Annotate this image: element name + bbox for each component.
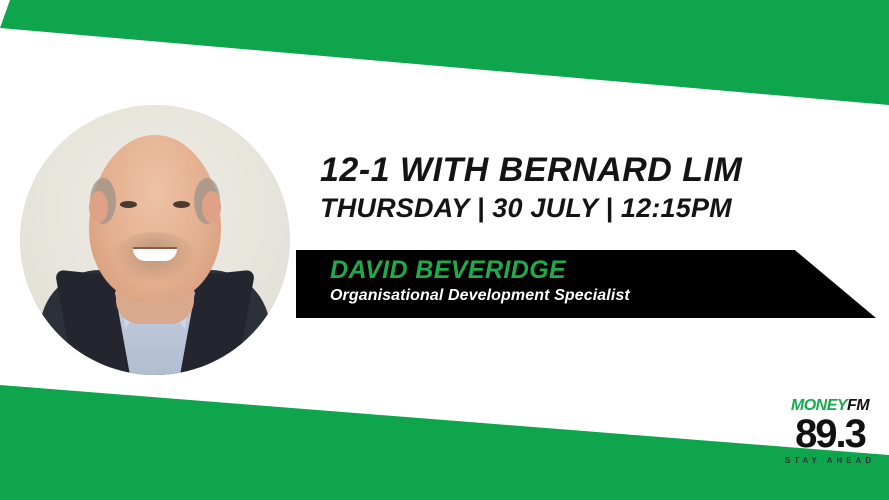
- logo-frequency: 89.3: [780, 415, 880, 453]
- logo-tagline: STAY AHEAD: [780, 456, 880, 465]
- headline-block: 12-1 WITH BERNARD LIM THURSDAY | 30 JULY…: [320, 153, 876, 224]
- photo-ear-left: [89, 191, 108, 223]
- show-title: 12-1 WITH BERNARD LIM: [320, 153, 876, 189]
- promo-graphic: 12-1 WITH BERNARD LIM THURSDAY | 30 JULY…: [0, 0, 889, 500]
- guest-role: Organisational Development Specialist: [330, 287, 630, 305]
- photo-eye-right: [173, 201, 190, 208]
- photo-eye-left: [120, 201, 137, 208]
- guest-name-banner: DAVID BEVERIDGE Organisational Developme…: [296, 250, 876, 318]
- guest-name: DAVID BEVERIDGE: [330, 256, 566, 285]
- bottom-green-band: [0, 385, 889, 500]
- top-green-band: [0, 0, 889, 105]
- guest-photo: [20, 105, 290, 375]
- show-schedule: THURSDAY | 30 JULY | 12:15PM: [320, 193, 876, 224]
- station-logo: MONEYFM 89.3 STAY AHEAD: [780, 398, 880, 465]
- photo-smile: [133, 249, 177, 261]
